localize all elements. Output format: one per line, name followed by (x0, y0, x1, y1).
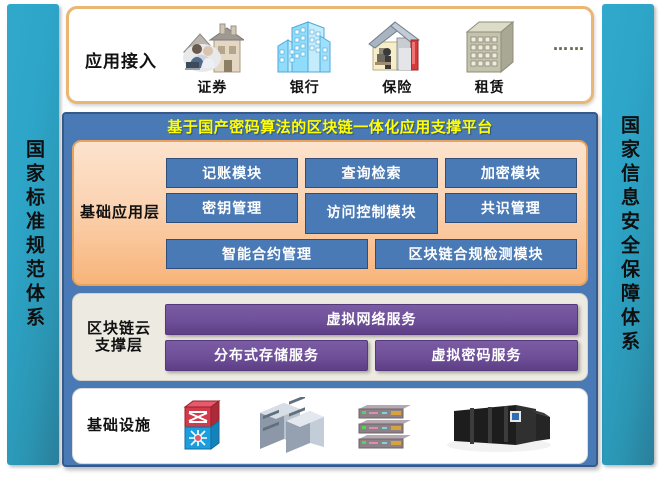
infrastructure-icons (165, 389, 587, 463)
base-application-layer-label: 基础应用层 (74, 204, 166, 221)
left-pillar-label: 国家标准规范体系 (23, 139, 43, 331)
service-distributed-storage[interactable]: 分布式存储服务 (165, 340, 368, 371)
module-blockchain-compliance-detection[interactable]: 区块链合规检测模块 (375, 239, 577, 269)
service-virtual-cryptography[interactable]: 虚拟密码服务 (375, 340, 578, 371)
platform-title: 基于国产密码算法的区块链一体化应用支撑平台 (64, 114, 596, 140)
module-encryption[interactable]: 加密模块 (445, 158, 577, 188)
app-item-caption: 保险 (362, 77, 433, 97)
app-item-leasing[interactable]: 租赁 (455, 16, 526, 97)
insurance-house-icon (362, 16, 433, 76)
right-pillar-national-infosec-system: 国家信息安全保障体系 (602, 4, 654, 465)
app-item-caption: 银行 (270, 77, 341, 97)
service-row-1: 虚拟网络服务 (165, 304, 578, 335)
mainframe-storage-icon (444, 397, 554, 455)
app-item-caption: 租赁 (455, 77, 526, 97)
app-item-insurance[interactable]: 保险 (362, 16, 433, 97)
server-rack-icon (256, 397, 326, 455)
base-application-modules: 记账模块 查询检索 加密模块 密钥管理 访问控制模块 共识管理 智能合约管理 区… (166, 151, 586, 276)
cloud-label-line-1: 区块链云 (73, 320, 165, 337)
platform-panel: 基于国产密码算法的区块链一体化应用支撑平台 基础应用层 记账模块 查询检索 加密… (62, 112, 598, 467)
service-row-2: 分布式存储服务 虚拟密码服务 (165, 340, 578, 371)
module-row-3: 智能合约管理 区块链合规检测模块 (166, 239, 577, 269)
leasing-building-icon (455, 16, 526, 76)
application-access-card: 应用接入 (66, 6, 594, 104)
blockchain-cloud-support-layer: 区块链云 支撑层 虚拟网络服务 分布式存储服务 虚拟密码服务 (72, 293, 588, 381)
module-smart-contract-management[interactable]: 智能合约管理 (166, 239, 368, 269)
service-virtual-network[interactable]: 虚拟网络服务 (165, 304, 578, 335)
app-item-securities[interactable]: 证券 (177, 16, 248, 97)
network-switch-icon (181, 397, 225, 455)
diagram-root: 国家标准规范体系 国家信息安全保障体系 应用接入 (0, 0, 661, 477)
application-access-label: 应用接入 (85, 47, 157, 72)
cloud-services: 虚拟网络服务 分布式存储服务 虚拟密码服务 (165, 297, 587, 378)
app-items-ellipsis: …… (553, 36, 585, 54)
rack-units-icon (357, 397, 413, 455)
infrastructure-layer-label: 基础设施 (73, 417, 165, 434)
securities-house-icon (177, 16, 248, 76)
module-consensus-management[interactable]: 共识管理 (445, 193, 577, 223)
module-key-management[interactable]: 密钥管理 (166, 193, 298, 223)
module-access-control[interactable]: 访问控制模块 (305, 193, 437, 234)
application-access-items: 证券 (177, 15, 585, 97)
module-accounting[interactable]: 记账模块 (166, 158, 298, 188)
infrastructure-layer: 基础设施 (72, 388, 588, 464)
bank-buildings-icon (270, 16, 341, 76)
blockchain-cloud-support-layer-label: 区块链云 支撑层 (73, 320, 165, 355)
base-application-layer: 基础应用层 记账模块 查询检索 加密模块 密钥管理 访问控制模块 共识管理 智能… (72, 140, 588, 286)
app-item-caption: 证券 (177, 77, 248, 97)
module-row-2: 密钥管理 访问控制模块 共识管理 (166, 193, 577, 234)
right-pillar-label: 国家信息安全保障体系 (618, 115, 638, 355)
module-row-1: 记账模块 查询检索 加密模块 (166, 158, 577, 188)
app-item-bank[interactable]: 银行 (270, 16, 341, 97)
left-pillar-national-standard-system: 国家标准规范体系 (7, 4, 59, 465)
module-query-search[interactable]: 查询检索 (305, 158, 437, 188)
cloud-label-line-2: 支撑层 (73, 337, 165, 354)
